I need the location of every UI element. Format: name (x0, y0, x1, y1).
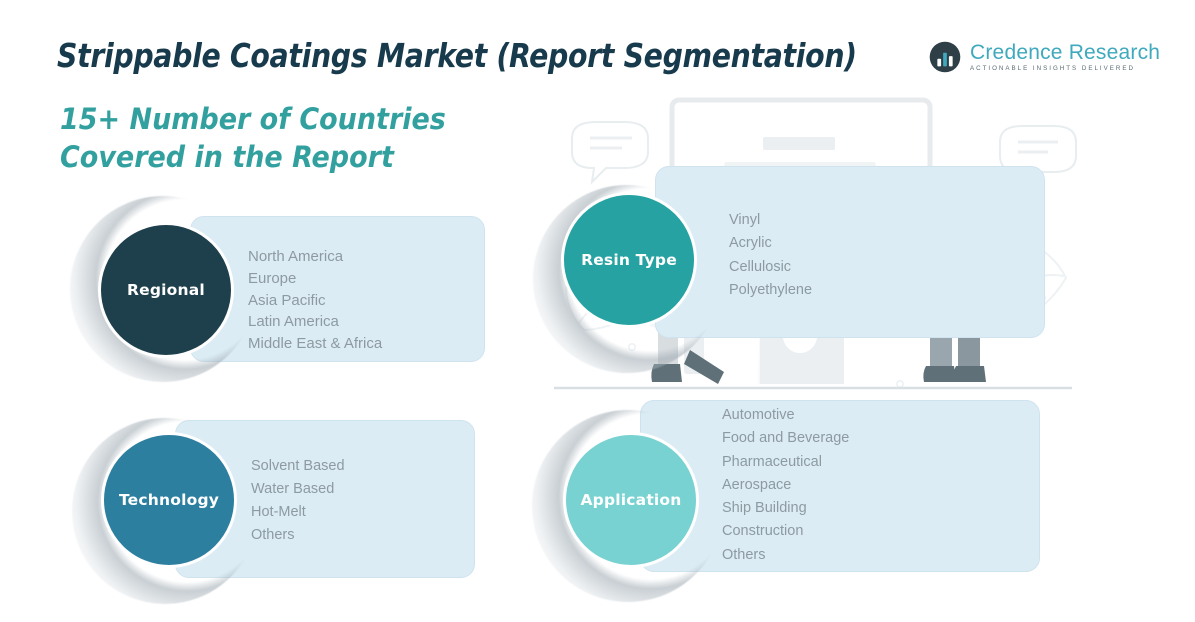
segment-items-resin-type: Vinyl Acrylic Cellulosic Polyethylene (729, 209, 812, 302)
list-item: Cellulosic (729, 256, 812, 279)
logo-name: Credence Research (970, 42, 1160, 63)
list-item: Ship Building (722, 497, 849, 520)
page-subtitle: 15+ Number of Countries Covered in the R… (60, 100, 460, 176)
list-item: Others (251, 524, 345, 547)
list-item: Vinyl (729, 209, 812, 232)
list-item: Water Based (251, 478, 345, 501)
list-item: Middle East & Africa (248, 333, 382, 355)
page-title: Strippable Coatings Market (Report Segme… (57, 36, 857, 75)
list-item: Automotive (722, 404, 849, 427)
segment-circle-technology[interactable]: Technology (101, 432, 237, 568)
credence-research-logo[interactable]: Credence Research Actionable Insights De… (928, 40, 1160, 74)
list-item: Europe (248, 268, 382, 290)
list-item: Solvent Based (251, 455, 345, 478)
list-item: Polyethylene (729, 279, 812, 302)
list-item: Pharmaceutical (722, 451, 849, 474)
segment-circle-application[interactable]: Application (563, 432, 699, 568)
speech-bubble-left (572, 122, 648, 182)
bar-chart-circle-icon (928, 40, 962, 74)
list-item: Asia Pacific (248, 290, 382, 312)
list-item: Latin America (248, 311, 382, 333)
segment-circle-resin-type[interactable]: Resin Type (561, 192, 697, 328)
list-item: Aerospace (722, 474, 849, 497)
segment-items-application: Automotive Food and Beverage Pharmaceuti… (722, 404, 849, 567)
list-item: Construction (722, 520, 849, 543)
list-item: Others (722, 544, 849, 567)
list-item: Food and Beverage (722, 427, 849, 450)
segment-circle-regional[interactable]: Regional (98, 222, 234, 358)
segment-items-technology: Solvent Based Water Based Hot-Melt Other… (251, 455, 345, 547)
infographic-canvas: Strippable Coatings Market (Report Segme… (0, 0, 1195, 622)
list-item: Hot-Melt (251, 501, 345, 524)
segment-items-regional: North America Europe Asia Pacific Latin … (248, 246, 382, 355)
list-item: Acrylic (729, 232, 812, 255)
list-item: North America (248, 246, 382, 268)
logo-tagline: Actionable Insights Delivered (970, 66, 1160, 72)
